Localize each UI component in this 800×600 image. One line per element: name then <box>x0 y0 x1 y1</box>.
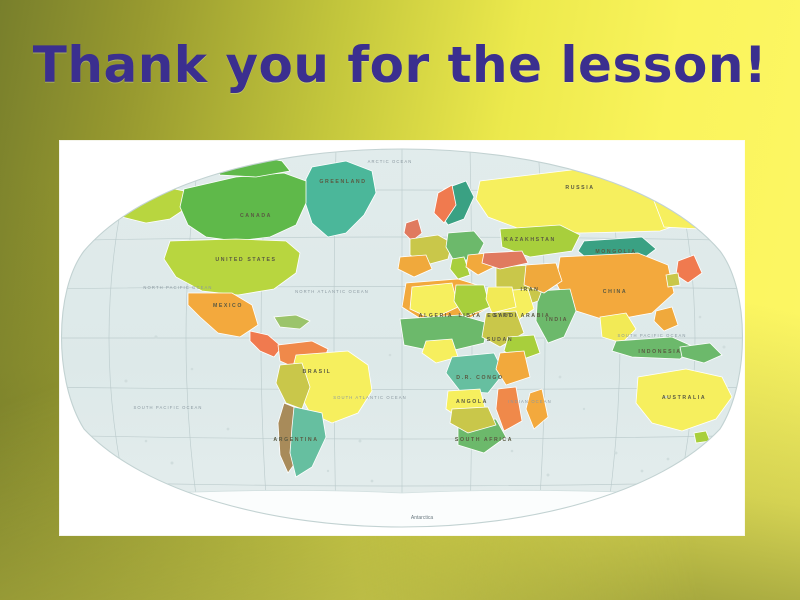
map-label: UNITED STATES <box>215 257 276 263</box>
map-label: SUDAN <box>487 337 513 343</box>
map-label: ANGOLA <box>456 399 488 405</box>
country-korea <box>666 273 680 287</box>
map-label: BRASIL <box>303 369 332 375</box>
map-label: MEXICO <box>213 303 243 309</box>
map-label: MONGOLIA <box>595 249 636 255</box>
map-label: INDONESIA <box>638 349 681 355</box>
world-map-image: NORTH PACIFIC OCEANNORTH ATLANTIC OCEANS… <box>60 141 744 535</box>
world-map-svg: NORTH PACIFIC OCEANNORTH ATLANTIC OCEANS… <box>60 141 744 535</box>
map-label: LIBYA <box>458 313 481 319</box>
map-label: ARGENTINA <box>273 437 318 443</box>
map-label: INDIAN OCEAN <box>508 399 551 404</box>
map-label: RUSSIA <box>565 185 594 191</box>
map-label: SAUDI ARABIA <box>494 313 551 319</box>
page-title: Thank you for the lesson! <box>0 36 800 94</box>
map-label: SOUTH PACIFIC OCEAN <box>134 405 203 410</box>
map-label: ARCTIC OCEAN <box>368 159 413 164</box>
map-label: CHINA <box>603 289 627 295</box>
map-label: GREENLAND <box>319 179 366 185</box>
map-label: KAZAKHSTAN <box>504 237 556 243</box>
map-label: NORTH PACIFIC OCEAN <box>143 285 212 290</box>
map-label: SOUTH PACIFIC OCEAN <box>618 333 687 338</box>
map-label: Antarctica <box>411 515 433 521</box>
map-label: SOUTH ATLANTIC OCEAN <box>333 395 407 400</box>
map-label: AUSTRALIA <box>662 395 706 401</box>
map-label: SOUTH AFRICA <box>455 437 513 443</box>
map-label: D.R. CONGO <box>456 375 503 381</box>
presentation-slide: Thank you for the lesson! <box>0 0 800 600</box>
map-label: NORTH ATLANTIC OCEAN <box>295 289 369 294</box>
map-label: IRAN <box>520 287 539 293</box>
map-label: CANADA <box>240 213 272 219</box>
map-globe: NORTH PACIFIC OCEANNORTH ATLANTIC OCEANS… <box>60 141 744 535</box>
map-label: ALGERIA <box>419 313 454 319</box>
